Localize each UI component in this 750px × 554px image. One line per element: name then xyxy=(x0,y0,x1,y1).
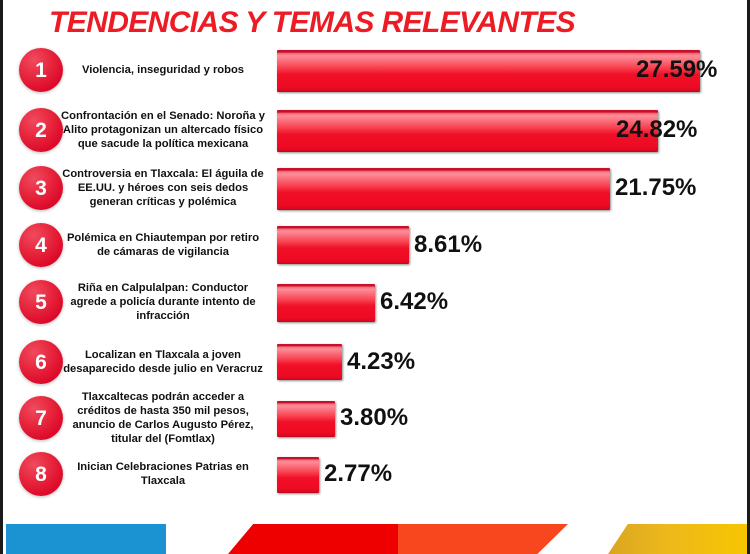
footer-orange-segment xyxy=(398,524,568,554)
topic-label-line: anuncio de Carlos Augusto Pérez, xyxy=(59,418,267,432)
topic-label-line: EE.UU. y héroes con seis dedos xyxy=(59,181,267,195)
topic-label-line: titular del (Fomtlax) xyxy=(59,432,267,446)
rank-badge: 2 xyxy=(19,108,63,152)
topic-label-line: Controversia en Tlaxcala: El águila de xyxy=(59,167,267,181)
rank-badge: 5 xyxy=(19,280,63,324)
value-label: 27.59% xyxy=(636,58,717,82)
value-bar xyxy=(277,457,319,493)
topic-label-line: generan críticas y polémica xyxy=(59,195,267,209)
topic-label-line: créditos de hasta 350 mil pesos, xyxy=(59,404,267,418)
infographic-frame: TENDENCIAS Y TEMAS RELEVANTES 1Violencia… xyxy=(0,0,750,554)
horizontal-bar-chart: 1Violencia, inseguridad y robos27.59%2Co… xyxy=(3,40,747,505)
topic-label-line: agrede a policía durante intento de xyxy=(59,295,267,309)
footer-color-strip xyxy=(3,524,747,554)
rank-number: 5 xyxy=(35,292,47,313)
value-label: 4.23% xyxy=(347,350,415,374)
topic-label-line: Alito protagonizan un altercado físico xyxy=(59,123,267,137)
value-label: 2.77% xyxy=(324,462,392,486)
value-bar xyxy=(277,284,375,322)
rank-badge: 1 xyxy=(19,48,63,92)
topic-label-line: Violencia, inseguridad y robos xyxy=(59,63,267,77)
topic-label-line: de cámaras de vigilancia xyxy=(59,245,267,259)
rank-badge: 6 xyxy=(19,340,63,384)
value-label: 8.61% xyxy=(414,233,482,257)
rank-number: 7 xyxy=(35,408,47,429)
rank-number: 2 xyxy=(35,120,47,141)
topic-label-line: Confrontación en el Senado: Noroña y xyxy=(59,109,267,123)
footer-red-segment xyxy=(228,524,408,554)
rank-number: 1 xyxy=(35,60,47,81)
value-bar xyxy=(277,226,409,264)
footer-yellow-segment xyxy=(608,524,750,554)
topic-label-line: Tlaxcala xyxy=(59,474,267,488)
value-label: 3.80% xyxy=(340,406,408,430)
topic-label-line: infracción xyxy=(59,309,267,323)
topic-label: Controversia en Tlaxcala: El águila deEE… xyxy=(59,167,267,210)
rank-badge: 7 xyxy=(19,396,63,440)
topic-label-line: Localizan en Tlaxcala a joven xyxy=(59,348,267,362)
rank-badge: 3 xyxy=(19,166,63,210)
rank-number: 3 xyxy=(35,178,47,199)
value-label: 24.82% xyxy=(616,118,697,142)
topic-label-line: Tlaxcaltecas podrán acceder a xyxy=(59,390,267,404)
value-bar xyxy=(277,401,335,437)
topic-label: Tlaxcaltecas podrán acceder acréditos de… xyxy=(59,390,267,447)
value-bar xyxy=(277,344,342,380)
rank-number: 4 xyxy=(35,235,47,256)
value-bar xyxy=(277,168,610,210)
topic-label: Confrontación en el Senado: Noroña yAlit… xyxy=(59,109,267,152)
topic-label-line: Polémica en Chiautempan por retiro xyxy=(59,231,267,245)
topic-label-line: Riña en Calpulalpan: Conductor xyxy=(59,281,267,295)
value-bar xyxy=(277,110,658,152)
value-label: 6.42% xyxy=(380,290,448,314)
value-label: 21.75% xyxy=(615,176,696,200)
rank-badge: 8 xyxy=(19,452,63,496)
topic-label-line: desaparecido desde julio en Veracruz xyxy=(59,362,267,376)
topic-label: Polémica en Chiautempan por retirode cám… xyxy=(59,231,267,260)
topic-label-line: Inician Celebraciones Patrias en xyxy=(59,460,267,474)
footer-blue-segment xyxy=(6,524,166,554)
topic-label: Localizan en Tlaxcala a jovendesaparecid… xyxy=(59,348,267,377)
topic-label: Inician Celebraciones Patrias enTlaxcala xyxy=(59,460,267,489)
topic-label: Violencia, inseguridad y robos xyxy=(59,63,267,77)
page-title: TENDENCIAS Y TEMAS RELEVANTES xyxy=(49,6,575,40)
topic-label: Riña en Calpulalpan: Conductoragrede a p… xyxy=(59,281,267,324)
rank-number: 8 xyxy=(35,464,47,485)
rank-number: 6 xyxy=(35,352,47,373)
rank-badge: 4 xyxy=(19,223,63,267)
topic-label-line: que sacude la política mexicana xyxy=(59,137,267,151)
